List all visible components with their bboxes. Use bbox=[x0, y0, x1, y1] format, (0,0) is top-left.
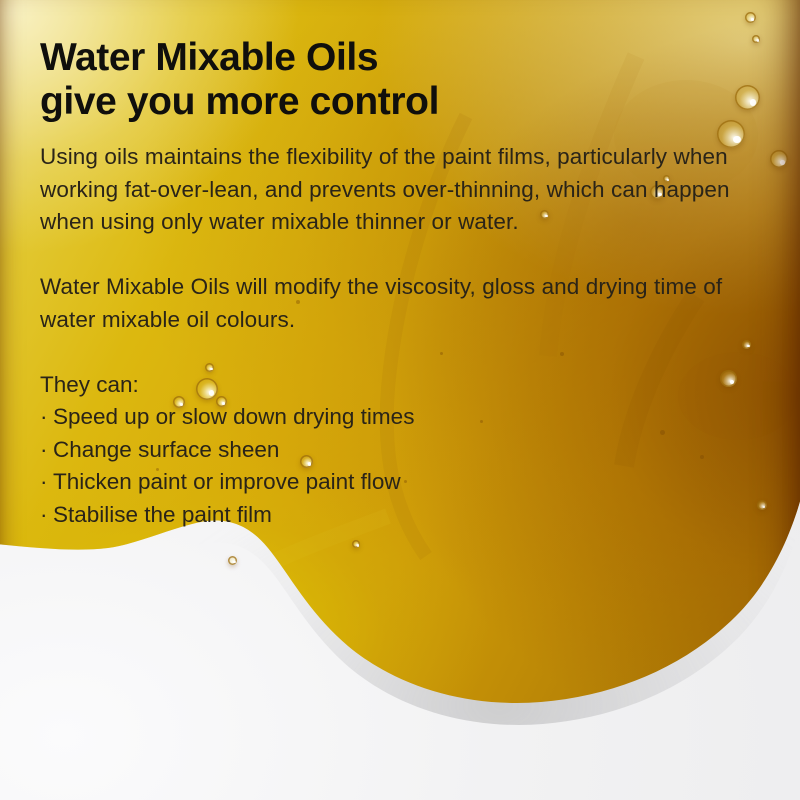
capabilities-list-block: They can: ·Speed up or slow down drying … bbox=[40, 369, 740, 531]
list-item-label: Speed up or slow down drying times bbox=[53, 404, 414, 429]
list-intro-label: They can: bbox=[40, 369, 740, 401]
page-title: Water Mixable Oils give you more control bbox=[40, 36, 740, 124]
poster: Water Mixable Oils give you more control… bbox=[0, 0, 800, 800]
poster-text-content: Water Mixable Oils give you more control… bbox=[40, 36, 740, 531]
list-item: ·Change surface sheen bbox=[40, 434, 740, 466]
body-paragraph-1: Using oils maintains the flexibility of … bbox=[40, 141, 740, 238]
body-paragraph-2: Water Mixable Oils will modify the visco… bbox=[40, 271, 740, 336]
list-item: ·Stabilise the paint film bbox=[40, 499, 740, 531]
headline-line-2: give you more control bbox=[40, 80, 740, 124]
bullet-dot-icon: · bbox=[40, 466, 53, 498]
capabilities-list: ·Speed up or slow down drying times ·Cha… bbox=[40, 401, 740, 531]
list-item: ·Speed up or slow down drying times bbox=[40, 401, 740, 433]
bullet-dot-icon: · bbox=[40, 499, 53, 531]
headline-line-1: Water Mixable Oils bbox=[40, 36, 740, 80]
list-item-label: Stabilise the paint film bbox=[53, 502, 272, 527]
bullet-dot-icon: · bbox=[40, 401, 53, 433]
bullet-dot-icon: · bbox=[40, 434, 53, 466]
list-item-label: Thicken paint or improve paint flow bbox=[53, 469, 401, 494]
list-item: ·Thicken paint or improve paint flow bbox=[40, 466, 740, 498]
list-item-label: Change surface sheen bbox=[53, 437, 279, 462]
